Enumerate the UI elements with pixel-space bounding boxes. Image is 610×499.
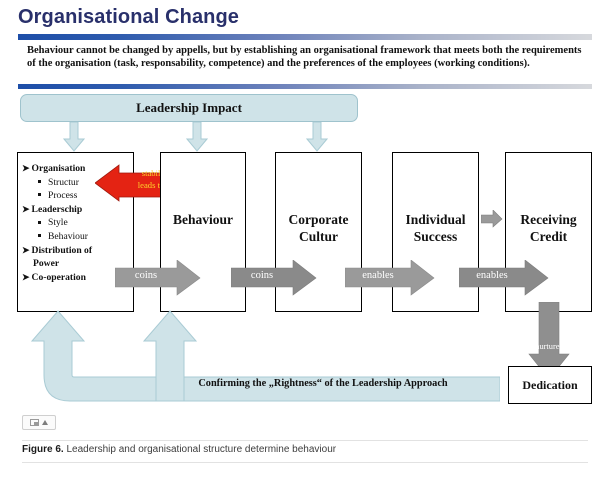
square-bullet-icon <box>38 193 41 196</box>
square-bullet-icon <box>38 180 41 183</box>
figure-caption-label: Figure 6. <box>22 444 64 455</box>
corporate-cultur-box-label: Corporate Cultur <box>276 211 361 245</box>
behaviour-box-label: Behaviour <box>161 211 245 228</box>
diagram-canvas: Leadership Impact ➤Organisation Structur… <box>0 90 610 410</box>
header-divider-bar <box>18 34 592 40</box>
leadership-impact-label: Leadership Impact <box>136 100 242 116</box>
screen-expand-icon-button[interactable] <box>22 415 56 430</box>
down-arrow-icon-3 <box>306 122 328 152</box>
receiving-credit-box-label: Receiving Credit <box>506 211 591 245</box>
figure-caption-text: Leadership and organisational structure … <box>64 444 336 455</box>
list-item: Behaviour <box>22 230 130 244</box>
list-item: ➤Distribution of <box>22 244 130 258</box>
chevron-right-icon: ➤ <box>22 204 30 214</box>
relation-arrow-label: coins <box>231 270 293 281</box>
list-item: Style <box>22 216 130 230</box>
list-item: Power <box>22 257 130 271</box>
list-item: ➤Leaderschip <box>22 203 130 217</box>
chevron-right-icon: ➤ <box>22 245 30 255</box>
relation-arrow-coins-2: coins <box>231 260 317 296</box>
chevron-right-icon: ➤ <box>22 272 30 282</box>
relation-arrow-enables-1: enables <box>345 260 435 296</box>
leadership-impact-banner: Leadership Impact <box>20 94 358 122</box>
nurtures-label: nurtures <box>528 342 570 351</box>
list-item: ➤Co-operation <box>22 271 130 285</box>
intro-divider-bar <box>18 84 592 89</box>
triangle-up-icon <box>42 420 48 425</box>
down-arrow-icon-2 <box>186 122 208 152</box>
relation-arrow-label: enables <box>459 270 525 281</box>
down-arrow-icon-1 <box>63 122 85 152</box>
dedication-box[interactable]: Dedication <box>508 366 592 404</box>
relation-arrow-coins-1: coins <box>115 260 201 296</box>
right-arrow-icon-connector <box>481 210 503 228</box>
page-title: Organisational Change <box>18 6 239 29</box>
relation-arrow-enables-2: enables <box>459 260 549 296</box>
figure-caption: Figure 6. Leadership and organisational … <box>22 444 588 455</box>
feedback-loop-arrow <box>30 305 500 405</box>
caption-divider-top <box>22 440 588 441</box>
relation-arrow-label: enables <box>345 270 411 281</box>
feedback-loop-label: Confirming the „Rightness“ of the Leader… <box>150 378 496 389</box>
chevron-right-icon: ➤ <box>22 163 30 173</box>
caption-divider-bottom <box>22 462 588 463</box>
screen-icon <box>30 419 39 426</box>
individual-success-box-label: Individual Success <box>393 211 478 245</box>
intro-paragraph: Behaviour cannot be changed by appells, … <box>27 44 587 70</box>
square-bullet-icon <box>38 234 41 237</box>
relation-arrow-label: coins <box>115 270 177 281</box>
square-bullet-icon <box>38 221 41 224</box>
dedication-box-label: Dedication <box>522 378 577 393</box>
